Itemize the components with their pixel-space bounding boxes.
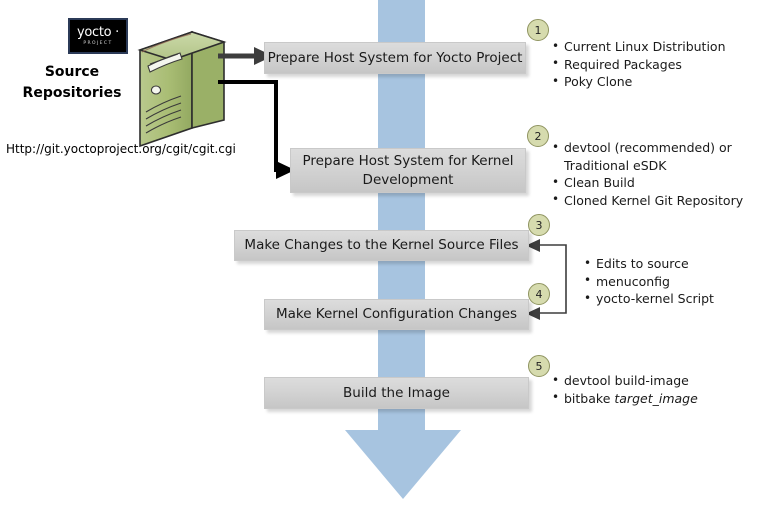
bracket-steps-3-4-icon: [524, 236, 590, 320]
diagram-canvas: yocto · PROJECT Source Repositories Http…: [0, 0, 769, 517]
list-item: Current Linux Distribution: [552, 38, 757, 56]
step-box-prepare-host-yocto[interactable]: Prepare Host System for Yocto Project: [264, 42, 526, 74]
step-box-prepare-host-kernel[interactable]: Prepare Host System for Kernel Developme…: [290, 148, 526, 193]
source-repositories-label-line1: Source: [12, 62, 132, 83]
list-item-text: bitbake: [564, 391, 614, 406]
list-item-emphasis: target_image: [614, 391, 697, 406]
list-item: Edits to source: [584, 255, 759, 273]
step-badge-2: 2: [527, 125, 549, 147]
steps-3-4-bullet-list: Edits to source menuconfig yocto-kernel …: [584, 255, 759, 308]
list-item: Poky Clone: [552, 73, 757, 91]
step-box-label: Prepare Host System for Kernel Developme…: [302, 152, 513, 190]
step-5-bullet-list: devtool build-image bitbake target_image: [552, 372, 742, 407]
step-badge-3: 3: [528, 214, 550, 236]
step-badge-5: 5: [528, 355, 550, 377]
list-item: menuconfig: [584, 273, 759, 291]
list-item: bitbake target_image: [552, 390, 742, 408]
list-item: devtool build-image: [552, 372, 742, 390]
source-repositories-label-line2: Repositories: [12, 83, 132, 104]
server-tower-icon: [136, 28, 228, 150]
connector-server-to-step2-icon: [218, 74, 298, 182]
step-box-make-kernel-source-changes[interactable]: Make Changes to the Kernel Source Files: [234, 230, 529, 261]
step-box-make-kernel-config-changes[interactable]: Make Kernel Configuration Changes: [264, 299, 529, 330]
step-box-label: Prepare Host System for Yocto Project: [268, 49, 523, 68]
step-1-bullet-list: Current Linux Distribution Required Pack…: [552, 38, 757, 91]
step-badge-1: 1: [527, 19, 549, 41]
flow-arrow-down-icon: [340, 425, 466, 505]
step-box-label: Make Kernel Configuration Changes: [276, 305, 517, 324]
step-badge-4: 4: [528, 283, 550, 305]
list-item-text: devtool build-image: [564, 373, 689, 388]
step-box-build-the-image[interactable]: Build the Image: [264, 377, 529, 409]
step-box-label: Build the Image: [343, 384, 450, 403]
yocto-logo-wordmark: yocto ·: [77, 26, 119, 39]
step-2-bullet-list: devtool (recommended) or Traditional eSD…: [552, 139, 752, 209]
list-item: devtool (recommended) or Traditional eSD…: [552, 139, 752, 174]
step-box-label-line2: Development: [363, 172, 454, 188]
yocto-logo-subtext: PROJECT: [83, 40, 112, 47]
yocto-project-logo: yocto · PROJECT: [68, 18, 128, 54]
list-item: Cloned Kernel Git Repository: [552, 192, 752, 210]
list-item: yocto-kernel Script: [584, 290, 759, 308]
source-repositories-label: Source Repositories: [12, 62, 132, 104]
step-box-label: Make Changes to the Kernel Source Files: [244, 236, 518, 255]
list-item: Required Packages: [552, 56, 757, 74]
step-box-label-line1: Prepare Host System for Kernel: [302, 153, 513, 169]
list-item: Clean Build: [552, 174, 752, 192]
